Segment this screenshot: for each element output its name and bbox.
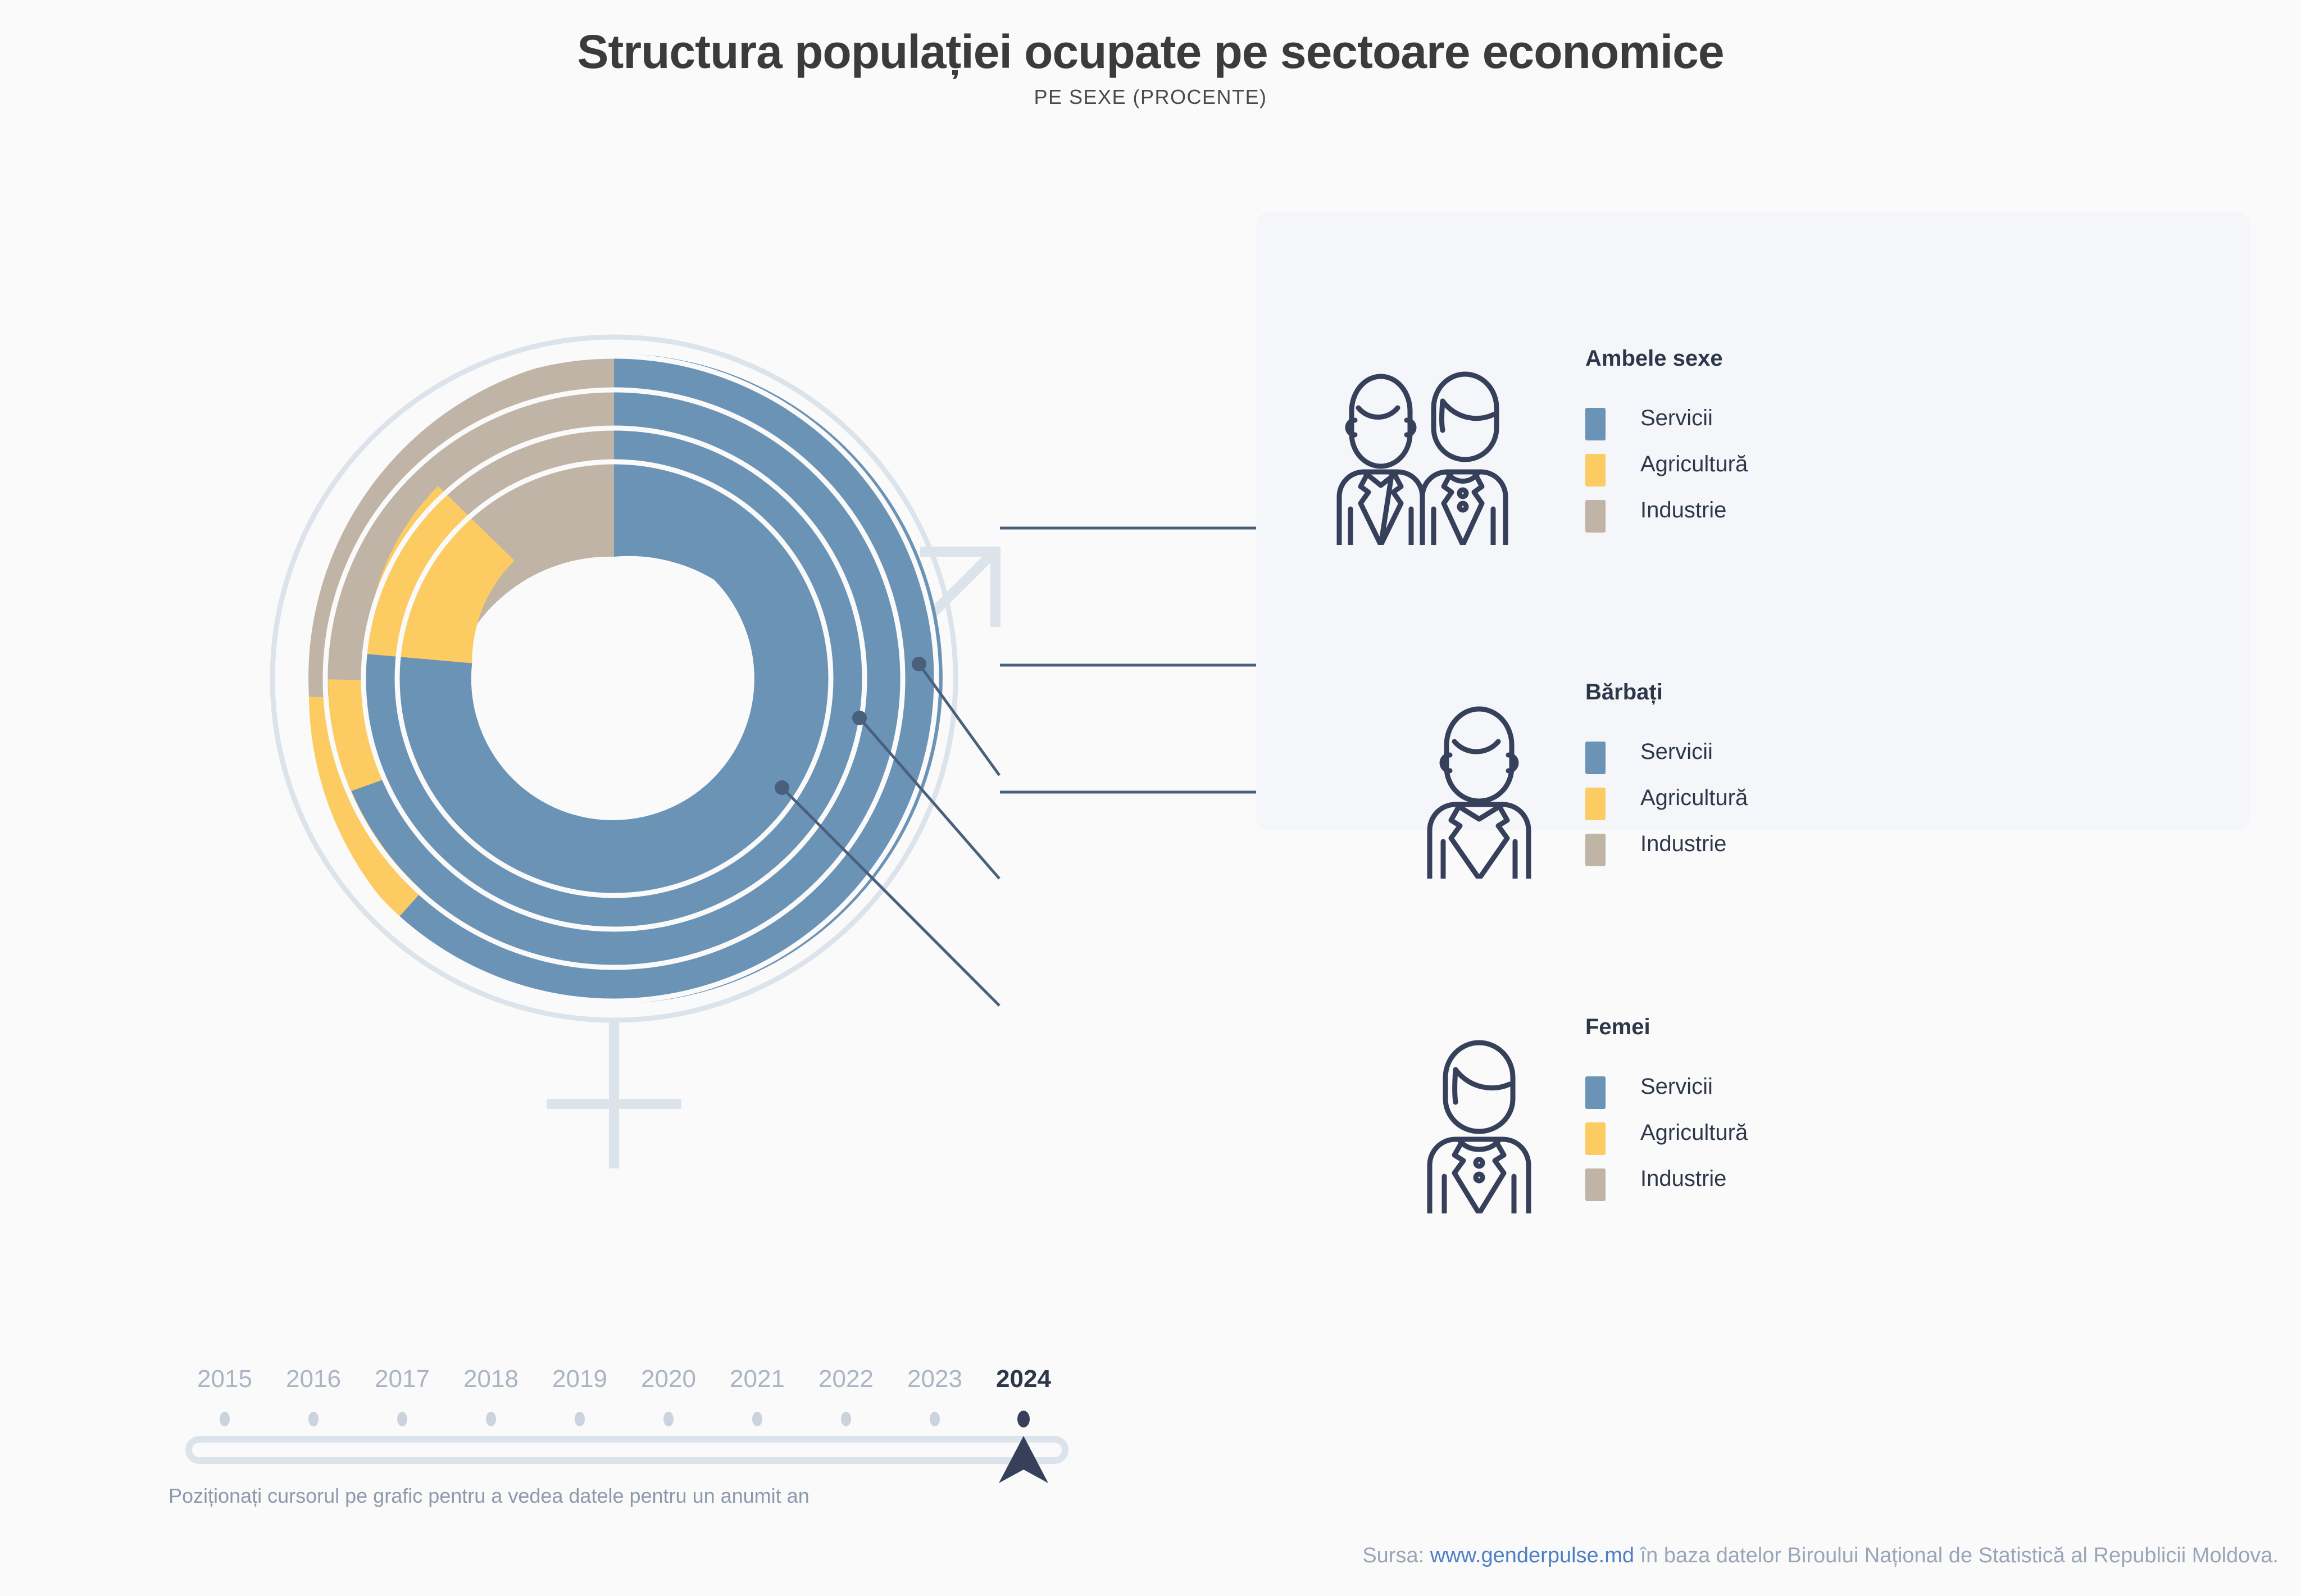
- legend-swatch-agricultura: [1585, 788, 1606, 820]
- legend-label: Servicii: [1640, 739, 1713, 765]
- legend-value: 63,1%: [2203, 739, 2301, 765]
- legend-value: 13,4%: [2203, 498, 2301, 523]
- year-label-2023[interactable]: 2023: [907, 1365, 962, 1393]
- legend-swatch-industrie: [1585, 834, 1606, 866]
- page-title: Structura populației ocupate pe sectoare…: [0, 0, 2301, 76]
- woman-icon: [1386, 1028, 1572, 1213]
- legend-group-title: Ambele sexe: [1585, 346, 1723, 371]
- legend-group-title: Bărbați: [1585, 680, 1663, 705]
- year-label-2021[interactable]: 2021: [730, 1365, 785, 1393]
- year-slider[interactable]: 2015 2016 2017 2018 2019 2020 2021 2022 …: [169, 1365, 1095, 1511]
- slider-track[interactable]: [189, 1439, 1065, 1461]
- source-prefix: Sursa:: [1362, 1544, 1430, 1567]
- year-ticks: [220, 1412, 940, 1426]
- two-persons-icon: [1335, 360, 1520, 545]
- legend-swatch-servicii: [1585, 408, 1606, 440]
- legend-value: 14,5%: [2203, 831, 2301, 857]
- legend-value: 22,4%: [2203, 785, 2301, 811]
- legend-label: Agricultură: [1640, 785, 1748, 811]
- slider-hint: Poziționați cursorul pe grafic pentru a …: [169, 1484, 1124, 1508]
- legend-swatch-servicii: [1585, 742, 1606, 774]
- legend-swatch-agricultura: [1585, 1122, 1606, 1155]
- legend-value: 18,1%: [2203, 452, 2301, 477]
- infographic-root: Structura populației ocupate pe sectoare…: [0, 0, 2301, 1596]
- legend-label: Servicii: [1640, 406, 1713, 431]
- header: Structura populației ocupate pe sectoare…: [0, 0, 2301, 109]
- page-subtitle: PE SEXE (PROCENTE): [0, 76, 2301, 109]
- man-icon: [1386, 693, 1572, 879]
- year-label-2017[interactable]: 2017: [375, 1365, 430, 1393]
- source-link[interactable]: www.genderpulse.md: [1430, 1544, 1634, 1567]
- legend-group-title: Femei: [1585, 1015, 1650, 1040]
- source-footer: Sursa: www.genderpulse.md în baza datelo…: [0, 1544, 2301, 1568]
- ring-femei[interactable]: [365, 430, 862, 927]
- year-labels: 2015 2016 2017 2018 2019 2020 2021 2022 …: [169, 1365, 1095, 1404]
- year-label-2015[interactable]: 2015: [197, 1365, 252, 1393]
- legend-label: Agricultură: [1640, 452, 1748, 477]
- legend-label: Industrie: [1640, 498, 1726, 523]
- source-suffix: în baza datelor Biroului Național de Sta…: [1634, 1544, 2279, 1567]
- legend-panel: Ambele sexe Servicii 68,5% Agricultură 1…: [1256, 212, 2250, 830]
- legend-value: 68,5%: [2203, 406, 2301, 431]
- legend-swatch-agricultura: [1585, 454, 1606, 486]
- year-track[interactable]: [169, 1404, 1095, 1483]
- legend-swatch-industrie: [1585, 500, 1606, 533]
- legend-label: Servicii: [1640, 1074, 1713, 1099]
- year-tick-selected: [1017, 1411, 1030, 1427]
- year-label-2018[interactable]: 2018: [463, 1365, 519, 1393]
- legend-label: Agricultură: [1640, 1120, 1748, 1145]
- year-label-2020[interactable]: 2020: [641, 1365, 696, 1393]
- callout-connectors: [955, 393, 1303, 1180]
- legend-value: 12,4%: [2203, 1166, 2301, 1192]
- legend-swatch-industrie: [1585, 1168, 1606, 1201]
- legend-swatch-servicii: [1585, 1076, 1606, 1109]
- legend-label: Industrie: [1640, 1166, 1726, 1192]
- year-label-2016[interactable]: 2016: [286, 1365, 341, 1393]
- year-label-2024[interactable]: 2024: [996, 1365, 1051, 1393]
- year-label-2019[interactable]: 2019: [552, 1365, 607, 1393]
- legend-label: Industrie: [1640, 831, 1726, 857]
- year-label-2022[interactable]: 2022: [818, 1365, 874, 1393]
- legend-value: 14,0%: [2203, 1120, 2301, 1145]
- legend-value: 73,6%: [2203, 1074, 2301, 1099]
